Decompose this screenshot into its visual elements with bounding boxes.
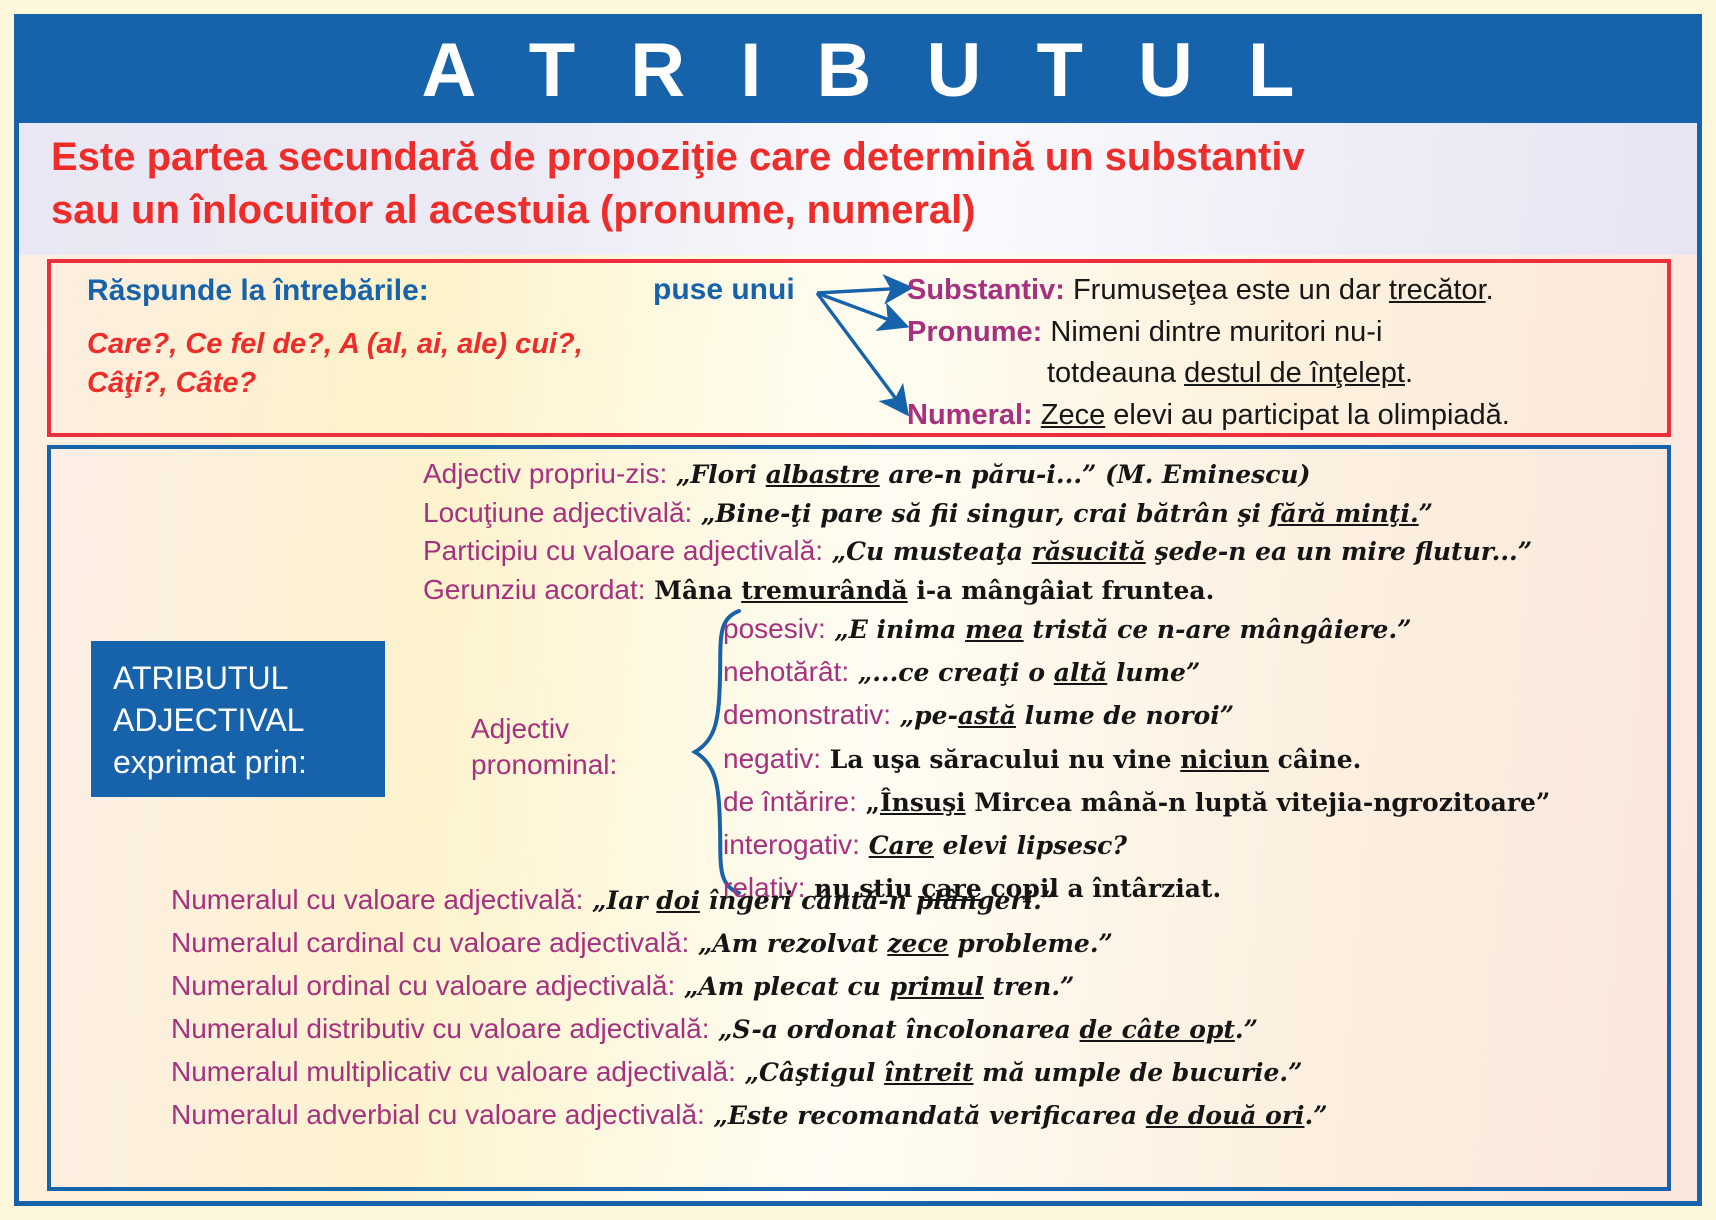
adjectiv-pronominal-label-line1: Adjectiv xyxy=(471,711,617,747)
target-substantiv-example-post: . xyxy=(1486,274,1494,306)
callout-line-3: exprimat prin: xyxy=(113,741,385,783)
numeral-adverbial-underline: de două ori xyxy=(1146,1101,1305,1130)
target-pronume-cont-underline: destul de înţelept xyxy=(1184,357,1405,389)
adjective-forms-list: Adjectiv propriu-zis: „Flori albastre ar… xyxy=(423,455,1623,610)
target-pronume-label: Pronume: xyxy=(907,316,1042,348)
numeral-item: Numeralul ordinal cu valoare adjectivală… xyxy=(171,967,1651,1005)
target-numeral-label: Numeral: xyxy=(907,399,1033,431)
locutiune-adjectivala-underline: fără minţi. xyxy=(1270,499,1419,528)
adjectiv-propriu-zis-underline: albastre xyxy=(766,460,880,489)
gerunziu-pre: Mâna xyxy=(646,576,742,605)
target-pronume: Pronume: Nimeni dintre muritori nu-i xyxy=(907,313,1647,352)
negativ-post: câine. xyxy=(1269,745,1361,774)
target-pronume-continuation: totdeauna destul de înţelept. xyxy=(907,354,1647,393)
adjective-form-item: Gerunziu acordat: Mâna tremurândă i-a mâ… xyxy=(423,571,1623,610)
target-numeral-example-pre xyxy=(1033,399,1041,431)
numeral-multiplicativ-underline: întreit xyxy=(884,1058,973,1087)
page-title: A T R I B U T U L xyxy=(405,33,1312,109)
posesiv-post: tristă ce n-are mângâiere.” xyxy=(1024,615,1412,644)
numeral-cardinal-pre: „Am rezolvat xyxy=(689,929,887,958)
questions-list-line-1: Care?, Ce fel de?, A (al, ai, ale) cui?, xyxy=(87,325,727,364)
gerunziu-label: Gerunziu acordat: xyxy=(423,574,646,605)
numeral-cardinal-underline: zece xyxy=(887,929,948,958)
interogativ-label: interogativ: xyxy=(723,829,860,860)
adjectiv-propriu-zis-label: Adjectiv propriu-zis: xyxy=(423,458,667,489)
interogativ-pre xyxy=(860,831,869,860)
numeral-valoare-label: Numeralul cu valoare adjectivală: xyxy=(171,884,583,915)
adjectiv-propriu-zis-pre: „Flori xyxy=(667,460,765,489)
nehotarat-post: lume” xyxy=(1107,658,1200,687)
numeral-distributiv-underline: de câte opt xyxy=(1080,1015,1235,1044)
questions-left-column: Răspunde la întrebările: Care?, Ce fel d… xyxy=(87,273,727,403)
posesiv-pre: „E inima xyxy=(826,615,965,644)
questions-box: Răspunde la întrebările: Care?, Ce fel d… xyxy=(47,259,1671,437)
target-numeral-example-underline: Zece xyxy=(1041,399,1105,431)
questions-heading: Răspunde la întrebările: xyxy=(87,273,727,309)
nehotarat-underline: altă xyxy=(1054,658,1107,687)
de-intarire-pre: „ xyxy=(857,788,880,817)
target-pronume-example-pre: Nimeni dintre muritori nu-i xyxy=(1042,316,1382,348)
adjectiv-pronominal-label-line2: pronominal: xyxy=(471,747,617,783)
adjective-form-item: Locuţiune adjectivală: „Bine-ţi pare să … xyxy=(423,494,1623,533)
callout-line-2: ADJECTIVAL xyxy=(113,699,385,741)
participiu-pre: „Cu musteaţa xyxy=(823,537,1032,566)
adjectiv-propriu-zis-post: are-n păru-i...” xyxy=(880,460,1097,489)
numeral-cardinal-label: Numeralul cardinal cu valoare adjectival… xyxy=(171,927,689,958)
questions-list-line-2: Câţi?, Câte? xyxy=(87,364,727,403)
locutiune-adjectivala-pre: „Bine-ţi pare să fii singur, crai bătrân… xyxy=(692,499,1269,528)
demonstrativ-label: demonstrativ: xyxy=(723,699,891,730)
de-intarire-post: Mircea mână-n luptă vitejia-ngrozitoare” xyxy=(966,788,1551,817)
numeral-ordinal-pre: „Am plecat cu xyxy=(675,972,889,1001)
numeral-item: Numeralul multiplicativ cu valoare adjec… xyxy=(171,1053,1651,1091)
locutiune-adjectivala-label: Locuţiune adjectivală: xyxy=(423,497,692,528)
adjective-form-item: Participiu cu valoare adjectivală: „Cu m… xyxy=(423,532,1623,571)
demonstrativ-underline: astă xyxy=(958,701,1016,730)
adjective-form-item: Adjectiv propriu-zis: „Flori albastre ar… xyxy=(423,455,1623,494)
pronominal-adjectives-list: posesiv: „E inima mea tristă ce n-are mâ… xyxy=(723,609,1623,911)
gerunziu-post: i-a mângâiat fruntea. xyxy=(908,576,1215,605)
poster-frame: A T R I B U T U L Este partea secundară … xyxy=(14,14,1702,1206)
nehotarat-pre: „...ce creaţi o xyxy=(849,658,1054,687)
posesiv-label: posesiv: xyxy=(723,613,826,644)
negativ-label: negativ: xyxy=(723,743,821,774)
numeral-item: Numeralul distributiv cu valoare adjecti… xyxy=(171,1010,1651,1048)
pronominal-item: demonstrativ: „pe-astă lume de noroi” xyxy=(723,695,1623,734)
numeral-adverbial-label: Numeralul adverbial cu valoare adjectiva… xyxy=(171,1099,705,1130)
demonstrativ-pre: „pe- xyxy=(891,701,958,730)
de-intarire-label: de întărire: xyxy=(723,786,857,817)
pronominal-item: de întărire: „Însuşi Mircea mână-n luptă… xyxy=(723,782,1623,821)
puse-unui-label: puse unui xyxy=(653,273,795,307)
target-pronume-cont-pre: totdeauna xyxy=(1047,357,1184,389)
numeral-ordinal-post: tren.” xyxy=(984,972,1075,1001)
numeral-item: Numeralul cu valoare adjectivală: „Iar d… xyxy=(171,881,1651,919)
negativ-underline: niciun xyxy=(1180,745,1269,774)
arrow-to-substantiv xyxy=(817,288,907,293)
negativ-pre: La uşa săracului nu vine xyxy=(821,745,1180,774)
nehotarat-label: nehotărât: xyxy=(723,656,849,687)
numeral-multiplicativ-pre: „Câştigul xyxy=(736,1058,884,1087)
target-substantiv: Substantiv: Frumuseţea este un dar trecă… xyxy=(907,271,1647,310)
numeral-item: Numeralul adverbial cu valoare adjectiva… xyxy=(171,1096,1651,1134)
locutiune-adjectivala-post: ” xyxy=(1419,499,1433,528)
numeral-distributiv-post: .” xyxy=(1235,1015,1258,1044)
pronominal-item: negativ: La uşa săracului nu vine niciun… xyxy=(723,739,1623,778)
gerunziu-underline: tremurândă xyxy=(741,576,907,605)
numeral-distributiv-label: Numeralul distributiv cu valoare adjecti… xyxy=(171,1013,709,1044)
participiu-label: Participiu cu valoare adjectivală: xyxy=(423,535,823,566)
callout-line-1: ATRIBUTUL xyxy=(113,657,385,699)
posesiv-underline: mea xyxy=(965,615,1024,644)
pronominal-item: nehotărât: „...ce creaţi o altă lume” xyxy=(723,652,1623,691)
target-substantiv-label: Substantiv: xyxy=(907,274,1065,306)
demonstrativ-post: lume de noroi” xyxy=(1016,701,1234,730)
numeral-adverbial-pre: „Este recomandată verificarea xyxy=(705,1101,1146,1130)
numeral-valoare-pre: „Iar xyxy=(583,886,656,915)
pronominal-item: posesiv: „E inima mea tristă ce n-are mâ… xyxy=(723,609,1623,648)
target-numeral-example-post: elevi au participat la olimpiadă. xyxy=(1105,399,1510,431)
numeral-item: Numeralul cardinal cu valoare adjectival… xyxy=(171,924,1651,962)
numeral-valoare-post: îngeri cântă-n plângeri.” xyxy=(700,886,1056,915)
target-substantiv-example-pre: Frumuseţea este un dar xyxy=(1065,274,1389,306)
poster-root: A T R I B U T U L Este partea secundară … xyxy=(0,0,1716,1220)
interogativ-underline: Care xyxy=(869,831,934,860)
numeral-cardinal-post: probleme.” xyxy=(949,929,1113,958)
target-numeral: Numeral: Zece elevi au participat la oli… xyxy=(907,396,1647,435)
numeral-adverbial-post: .” xyxy=(1305,1101,1328,1130)
participiu-post: şede-n ea un mire flutur...” xyxy=(1146,537,1532,566)
definition-line-1: Este partea secundară de propoziţie care… xyxy=(51,131,1679,184)
questions-targets-column: Substantiv: Frumuseţea este un dar trecă… xyxy=(907,271,1647,437)
numeral-ordinal-underline: primul xyxy=(890,972,984,1001)
definition-line-2: sau un înlocuitor al acestuia (pronume, … xyxy=(51,184,1679,237)
numeral-distributiv-pre: „S-a ordonat încolonarea xyxy=(709,1015,1079,1044)
title-bar: A T R I B U T U L xyxy=(19,19,1697,123)
numeral-ordinal-label: Numeralul ordinal cu valoare adjectivală… xyxy=(171,970,675,1001)
numeral-valoare-underline: doi xyxy=(656,886,700,915)
main-content-box: Adjectiv propriu-zis: „Flori albastre ar… xyxy=(47,445,1671,1191)
target-pronume-cont-post: . xyxy=(1405,357,1413,389)
definition-band: Este partea secundară de propoziţie care… xyxy=(19,123,1697,255)
adjectiv-propriu-zis-attrib: (M. Eminescu) xyxy=(1096,460,1310,489)
numeral-adjectives-list: Numeralul cu valoare adjectivală: „Iar d… xyxy=(171,881,1651,1139)
de-intarire-underline: Însuşi xyxy=(880,788,966,817)
numeral-multiplicativ-post: mă umple de bucurie.” xyxy=(973,1058,1302,1087)
atributul-adjectival-callout: ATRIBUTUL ADJECTIVAL exprimat prin: xyxy=(91,641,385,797)
participiu-underline: răsucită xyxy=(1032,537,1146,566)
target-substantiv-example-underline: trecător xyxy=(1389,274,1486,306)
numeral-multiplicativ-label: Numeralul multiplicativ cu valoare adjec… xyxy=(171,1056,736,1087)
interogativ-post: elevi lipsesc? xyxy=(934,831,1127,860)
pronominal-item: interogativ: Care elevi lipsesc? xyxy=(723,825,1623,864)
adjectiv-pronominal-label: Adjectiv pronominal: xyxy=(471,711,617,784)
